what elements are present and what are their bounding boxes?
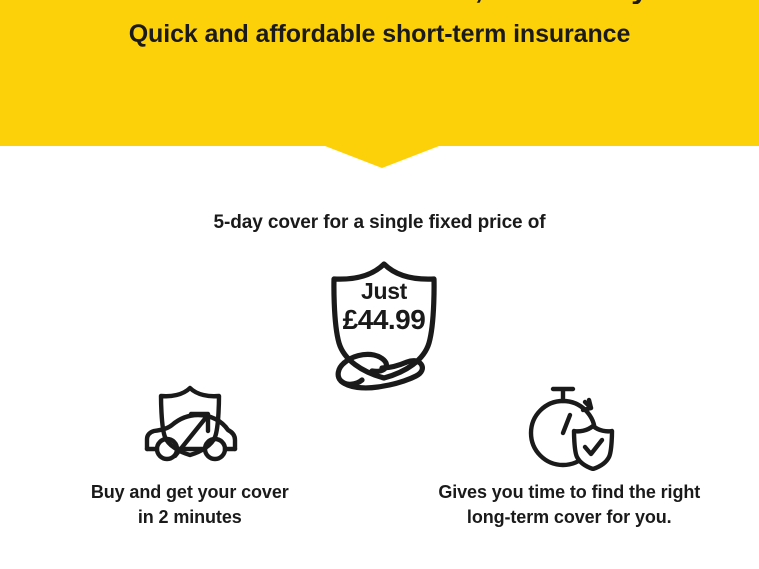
feature-caption-time-to-decide: Gives you time to find the right long-te…	[438, 480, 700, 530]
downward-pointer-notch-icon	[325, 146, 439, 168]
hero-banner: Short-term car insurance, made easy Quic…	[0, 0, 759, 146]
price-lede-text: 5-day cover for a single fixed price of	[0, 210, 759, 236]
feature-item-time-to-decide: Gives you time to find the right long-te…	[380, 380, 759, 550]
car-with-shield-and-up-arrow-icon	[135, 380, 245, 472]
hero-subtitle: Quick and affordable short-term insuranc…	[0, 17, 759, 51]
stopwatch-with-shield-check-icon	[519, 380, 619, 472]
feature-caption-quick-cover: Buy and get your cover in 2 minutes	[91, 480, 289, 530]
page-title: Short-term car insurance, made easy	[0, 0, 759, 4]
hero-title-clipped-region: Short-term car insurance, made easy	[0, 0, 759, 4]
feature-caption-line-1: Gives you time to find the right	[438, 480, 700, 505]
feature-caption-line-2: long-term cover for you.	[438, 505, 700, 530]
shield-in-hand-icon	[316, 256, 452, 392]
feature-item-quick-cover: Buy and get your cover in 2 minutes	[0, 380, 380, 550]
feature-caption-line-1: Buy and get your cover	[91, 480, 289, 505]
feature-caption-line-2: in 2 minutes	[91, 505, 289, 530]
feature-list: Buy and get your cover in 2 minutes	[0, 380, 759, 550]
